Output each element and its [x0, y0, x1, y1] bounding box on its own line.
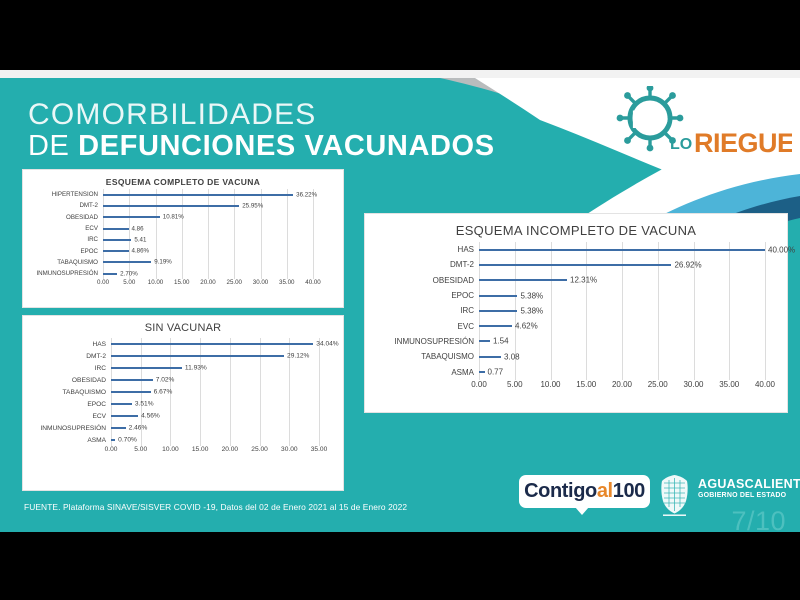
bar-track: 4.86: [103, 228, 313, 230]
bar-track: 5.38%: [479, 310, 765, 312]
bar: 4.62%: [479, 325, 512, 327]
bar-row: INMUNOSUPRESIÓN1.54: [371, 334, 765, 349]
bar-value-label: 1.54: [493, 337, 509, 346]
bar-value-label: 6.67%: [154, 389, 173, 396]
bar-value-label: 11.93%: [185, 365, 207, 372]
bar-value-label: 5.38%: [520, 306, 543, 315]
bar-row: OBESIDAD7.02%: [27, 374, 319, 386]
letterbox-top: [0, 0, 800, 70]
bar-track: 34.04%: [111, 343, 319, 345]
chart-plot-area: HAS40.00%DMT-226.92%OBESIDAD12.31%EPOC5.…: [365, 238, 787, 392]
category-label: DMT-2: [371, 260, 479, 269]
gridline: [765, 242, 766, 380]
bar-row: INMUNOSUPRESIÓN2.70%: [27, 268, 313, 279]
bar-track: 25.95%: [103, 205, 313, 207]
government-text: AGUASCALIENTES GOBIERNO DEL ESTADO: [698, 474, 800, 499]
bar: 26.92%: [479, 264, 671, 266]
x-tick-label: 35.00: [719, 380, 739, 389]
bar-track: 2.46%: [111, 427, 319, 429]
bar-row: EPOC4.86%: [27, 245, 313, 256]
bar-value-label: 26.92%: [674, 260, 701, 269]
contigo-logo-text: Contigoal100: [524, 480, 645, 503]
bar-value-label: 29.12%: [287, 353, 309, 360]
bar-track: 11.93%: [111, 367, 319, 369]
x-tick-label: 25.00: [251, 446, 268, 453]
bar-row: ASMA0.77: [371, 364, 765, 379]
bar: 5.38%: [479, 310, 517, 312]
category-label: ECV: [27, 225, 103, 232]
source-note: FUENTE. Plataforma SINAVE/SISVER COVID -…: [24, 502, 407, 512]
bar-row: IRC5.41: [27, 234, 313, 245]
bar: 11.93%: [111, 367, 182, 369]
logo-word-no: NO: [631, 106, 669, 134]
slide-top-edge: [0, 70, 800, 78]
bar: 5.41: [103, 239, 131, 241]
category-label: INMUNOSUPRESIÓN: [27, 270, 103, 277]
bar-value-label: 2.70%: [120, 270, 138, 277]
bar-value-label: 34.04%: [316, 341, 338, 348]
x-axis: 0.005.0010.0015.0020.0025.0030.0035.00: [27, 446, 319, 458]
bar: 29.12%: [111, 355, 284, 357]
bar-track: 10.81%: [103, 216, 313, 218]
bar: 3.51%: [111, 403, 132, 405]
chart-title: ESQUEMA INCOMPLETO DE VACUNA: [365, 214, 787, 238]
coat-of-arms-seal-icon: [658, 474, 691, 516]
x-tick-label: 30.00: [253, 279, 268, 286]
bar: 12.31%: [479, 279, 567, 281]
bar-track: 5.38%: [479, 295, 765, 297]
hundred-number: 100: [613, 480, 645, 502]
al-word: al: [597, 480, 613, 502]
bar-row: OBESIDAD12.31%: [371, 273, 765, 288]
bar-value-label: 40.00%: [768, 245, 795, 254]
bar: 2.70%: [103, 273, 117, 275]
chart-title: SIN VACUNAR: [23, 316, 343, 334]
bar-row: EPOC3.51%: [27, 398, 319, 410]
category-label: TABAQUISMO: [27, 259, 103, 266]
gridline: [319, 338, 320, 446]
bar: 0.77: [479, 371, 485, 373]
bar-row: EPOC5.38%: [371, 288, 765, 303]
bar: 7.02%: [111, 379, 153, 381]
bar-rows: HAS40.00%DMT-226.92%OBESIDAD12.31%EPOC5.…: [371, 242, 765, 380]
category-label: DMT-2: [27, 353, 111, 360]
bar-rows: HIPERTENSION36.22%DMT-225.95%OBESIDAD10.…: [27, 189, 313, 279]
logo-word-riegues: RIEGUES: [694, 128, 792, 158]
bar: 3.08: [479, 356, 501, 358]
bar-track: 1.54: [479, 340, 765, 342]
x-tick-label: 0.00: [471, 380, 487, 389]
bar-value-label: 0.70%: [118, 437, 137, 444]
axis-label-spacer: [27, 279, 103, 291]
category-label: HAS: [371, 245, 479, 254]
bar-row: INMUNOSUPRESIÓN2.46%: [27, 422, 319, 434]
category-label: IRC: [27, 365, 111, 372]
bar-row: DMT-226.92%: [371, 257, 765, 272]
bar: 25.95%: [103, 205, 239, 207]
chart-card-esquema-completo: ESQUEMA COMPLETO DE VACUNA HIPERTENSION3…: [22, 169, 344, 308]
bar-value-label: 2.46%: [129, 425, 148, 432]
bar-track: 5.41: [103, 239, 313, 241]
bar-value-label: 36.22%: [296, 191, 317, 198]
gridline: [313, 189, 314, 279]
bar-value-label: 3.51%: [135, 401, 154, 408]
chart-card-sin-vacunar: SIN VACUNAR HAS34.04%DMT-229.12%IRC11.93…: [22, 315, 344, 491]
category-label: OBESIDAD: [27, 214, 103, 221]
title-prefix: DE: [28, 130, 78, 162]
bar-track: 40.00%: [479, 249, 765, 251]
axis-label-spacer: [27, 446, 111, 458]
bar-track: 4.62%: [479, 325, 765, 327]
bar-rows: HAS34.04%DMT-229.12%IRC11.93%OBESIDAD7.0…: [27, 338, 319, 446]
bar-track: 0.77: [479, 371, 765, 373]
category-label: TABAQUISMO: [371, 352, 479, 361]
bar-value-label: 4.56%: [141, 413, 160, 420]
letterbox-bottom: [0, 533, 800, 600]
page-number: 7/10: [731, 506, 786, 532]
bar-track: 4.56%: [111, 415, 319, 417]
bar: 0.70%: [111, 439, 115, 441]
x-tick-label: 20.00: [612, 380, 632, 389]
bar-value-label: 4.62%: [515, 322, 538, 331]
category-label: HAS: [27, 341, 111, 348]
presentation-slide: COMORBILIDADES DE DEFUNCIONES VACUNADOS: [0, 78, 800, 532]
x-tick-label: 35.00: [279, 279, 294, 286]
bar: 2.46%: [111, 427, 126, 429]
x-tick-label: 15.00: [576, 380, 596, 389]
x-tick-label: 40.00: [305, 279, 320, 286]
bar: 4.56%: [111, 415, 138, 417]
x-tick-label: 30.00: [683, 380, 703, 389]
bar: 10.81%: [103, 216, 160, 218]
category-label: IRC: [371, 306, 479, 315]
x-axis: 0.005.0010.0015.0020.0025.0030.0035.0040…: [27, 279, 313, 291]
bar-value-label: 10.81%: [163, 214, 184, 221]
bar: 34.04%: [111, 343, 313, 345]
bar-row: HAS34.04%: [27, 338, 319, 350]
bar-row: DMT-225.95%: [27, 200, 313, 211]
chart-card-esquema-incompleto: ESQUEMA INCOMPLETO DE VACUNA HAS40.00%DM…: [364, 213, 788, 413]
category-label: ASMA: [371, 368, 479, 377]
bar-row: IRC5.38%: [371, 303, 765, 318]
bar-row: DMT-229.12%: [27, 350, 319, 362]
category-label: EVC: [371, 322, 479, 331]
bar-track: 12.31%: [479, 279, 765, 281]
logo-word-lo: LO: [670, 136, 692, 153]
x-tick-label: 5.00: [134, 446, 147, 453]
bar-row: EVC4.62%: [371, 318, 765, 333]
bar: 36.22%: [103, 194, 293, 196]
category-label: INMUNOSUPRESIÓN: [371, 337, 479, 346]
bar-row: HIPERTENSION36.22%: [27, 189, 313, 200]
x-tick-label: 10.00: [162, 446, 179, 453]
bar-value-label: 25.95%: [242, 202, 263, 209]
bar-track: 29.12%: [111, 355, 319, 357]
category-label: EPOC: [371, 291, 479, 300]
bar: 4.86%: [103, 250, 129, 252]
chart-plot-area: HAS34.04%DMT-229.12%IRC11.93%OBESIDAD7.0…: [23, 334, 343, 458]
x-tick-label: 30.00: [281, 446, 298, 453]
chart-title: ESQUEMA COMPLETO DE VACUNA: [23, 170, 343, 187]
bar-value-label: 4.86%: [132, 248, 150, 255]
contigo-word: Contigo: [524, 480, 597, 502]
bar: 5.38%: [479, 295, 517, 297]
bar: 40.00%: [479, 249, 765, 251]
state-name: AGUASCALIENTES: [698, 478, 800, 491]
category-label: OBESIDAD: [371, 276, 479, 285]
x-tick-label: 15.00: [192, 446, 209, 453]
bar-value-label: 3.08: [504, 352, 520, 361]
bar-value-label: 5.41: [134, 236, 146, 243]
bar-track: 4.86%: [103, 250, 313, 252]
x-tick-label: 20.00: [222, 446, 239, 453]
x-tick-label: 0.00: [97, 279, 109, 286]
x-tick-label: 25.00: [227, 279, 242, 286]
x-tick-label: 20.00: [200, 279, 215, 286]
category-label: INMUNOSUPRESIÓN: [27, 425, 111, 432]
bar-track: 3.08: [479, 356, 765, 358]
x-tick-label: 0.00: [105, 446, 118, 453]
x-tick-label: 15.00: [174, 279, 189, 286]
contigo-al-100-logo: Contigoal100: [519, 475, 650, 508]
category-label: ECV: [27, 413, 111, 420]
x-tick-label: 40.00: [755, 380, 775, 389]
x-axis: 0.005.0010.0015.0020.0025.0030.0035.0040…: [371, 380, 765, 392]
bar-row: OBESIDAD10.81%: [27, 212, 313, 223]
page-title: COMORBILIDADES DE DEFUNCIONES VACUNADOS: [28, 100, 495, 161]
category-label: EPOC: [27, 401, 111, 408]
x-tick-label: 5.00: [507, 380, 523, 389]
bar: 4.86: [103, 228, 129, 230]
bar-value-label: 9.19%: [154, 259, 172, 266]
bar: 6.67%: [111, 391, 151, 393]
bar-value-label: 7.02%: [156, 377, 175, 384]
bar-value-label: 0.77: [488, 368, 504, 377]
bar-value-label: 12.31%: [570, 276, 597, 285]
bar-value-label: 4.86: [132, 225, 144, 232]
bar-row: ECV4.86: [27, 223, 313, 234]
bar-track: 6.67%: [111, 391, 319, 393]
category-label: IRC: [27, 236, 103, 243]
x-tick-label: 35.00: [311, 446, 328, 453]
category-label: OBESIDAD: [27, 377, 111, 384]
x-axis-ticks: 0.005.0010.0015.0020.0025.0030.0035.0040…: [103, 279, 313, 291]
bar-row: TABAQUISMO9.19%: [27, 257, 313, 268]
no-lo-riegues-logo: NO LO RIEGUES: [612, 86, 792, 166]
title-line-1: COMORBILIDADES: [28, 100, 495, 131]
bar-row: HAS40.00%: [371, 242, 765, 257]
bar-row: ECV4.56%: [27, 410, 319, 422]
bar-track: 26.92%: [479, 264, 765, 266]
x-tick-label: 10.00: [540, 380, 560, 389]
bar: 9.19%: [103, 261, 151, 263]
x-axis-ticks: 0.005.0010.0015.0020.0025.0030.0035.0040…: [479, 380, 765, 392]
bar: 1.54: [479, 340, 490, 342]
axis-label-spacer: [371, 380, 479, 392]
bar-track: 2.70%: [103, 273, 313, 275]
bar-track: 9.19%: [103, 261, 313, 263]
campaign-logo-svg: NO LO RIEGUES: [612, 86, 792, 166]
screenshot-root: COMORBILIDADES DE DEFUNCIONES VACUNADOS: [0, 0, 800, 600]
category-label: DMT-2: [27, 202, 103, 209]
category-label: ASMA: [27, 437, 111, 444]
bar-row: IRC11.93%: [27, 362, 319, 374]
bar-value-label: 5.38%: [520, 291, 543, 300]
bar-track: 36.22%: [103, 194, 313, 196]
government-subtitle: GOBIERNO DEL ESTADO: [698, 492, 800, 499]
bar-row: TABAQUISMO3.08: [371, 349, 765, 364]
bar-row: ASMA0.70%: [27, 434, 319, 446]
category-label: EPOC: [27, 248, 103, 255]
bar-track: 3.51%: [111, 403, 319, 405]
chart-plot-area: HIPERTENSION36.22%DMT-225.95%OBESIDAD10.…: [23, 187, 343, 291]
x-axis-ticks: 0.005.0010.0015.0020.0025.0030.0035.00: [111, 446, 319, 458]
x-tick-label: 5.00: [123, 279, 135, 286]
title-emphasis: DEFUNCIONES VACUNADOS: [78, 130, 494, 162]
title-line-2: DE DEFUNCIONES VACUNADOS: [28, 131, 495, 161]
bar-track: 7.02%: [111, 379, 319, 381]
category-label: TABAQUISMO: [27, 389, 111, 396]
bar-row: TABAQUISMO6.67%: [27, 386, 319, 398]
bar-track: 0.70%: [111, 439, 319, 441]
category-label: HIPERTENSION: [27, 191, 103, 198]
x-tick-label: 10.00: [148, 279, 163, 286]
x-tick-label: 25.00: [648, 380, 668, 389]
